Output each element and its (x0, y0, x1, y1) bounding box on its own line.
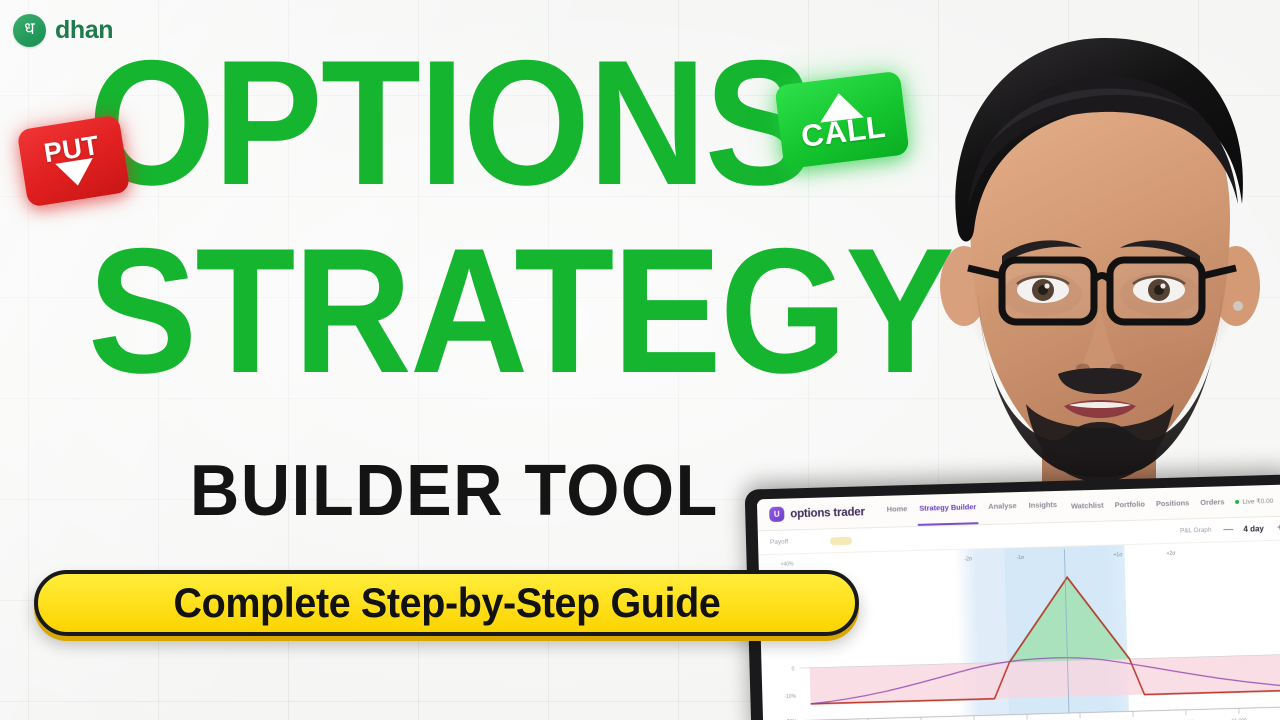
app-brand: U options trader (769, 504, 865, 522)
nav-item-analyse[interactable]: Analyse (988, 501, 1017, 516)
nav-item-portfolio[interactable]: Portfolio (1114, 500, 1145, 510)
headline-line-1: OPTIONS (88, 52, 812, 194)
ytick-40: +40% (781, 561, 794, 568)
nav-item-home[interactable]: Home (887, 504, 908, 519)
live-status-dot-icon (1235, 499, 1239, 503)
headline-line-3: BUILDER TOOL (190, 455, 719, 527)
nav-item-insights[interactable]: Insights (1029, 499, 1058, 514)
nav-item-strategy-builder[interactable]: Strategy Builder (919, 502, 976, 518)
app-primary-nav[interactable]: Home Strategy Builder Analyse Insights (887, 499, 1058, 518)
toolbar-right-label: P&L Graph (1180, 527, 1212, 535)
dhan-logo-wordmark: dhan (55, 16, 113, 45)
band-label-pos2: +2σ (1166, 550, 1176, 557)
stepper-increment-button[interactable]: + (1276, 523, 1280, 533)
toolbar-chip[interactable] (830, 536, 852, 545)
live-status-label: Live ₹0.00 (1242, 496, 1273, 505)
toolbar-right-group: P&L Graph — 4 day + (1180, 523, 1280, 536)
toolbar-left-label: Payoff (770, 539, 788, 547)
band-label-neg1: -1σ (1017, 555, 1025, 561)
stepper-value: 4 day (1243, 524, 1264, 534)
arrow-down-icon (55, 158, 96, 189)
put-badge: PUT (17, 114, 131, 207)
nav-item-positions[interactable]: Positions (1156, 498, 1190, 508)
days-stepper[interactable]: — 4 day + (1223, 523, 1280, 535)
options-trader-logo-icon: U (769, 507, 784, 522)
subtitle-banner: Complete Step-by-Step Guide (34, 570, 859, 636)
headline-line-2: STRATEGY (88, 240, 953, 382)
stepper-decrement-button[interactable]: — (1223, 525, 1231, 535)
dhan-logo: ध dhan (13, 14, 113, 47)
band-label-neg2: -2σ (965, 556, 973, 562)
ytick-0: 0 (792, 666, 795, 672)
nav-item-orders[interactable]: Orders (1200, 497, 1224, 507)
subtitle-banner-text: Complete Step-by-Step Guide (173, 582, 720, 624)
band-label-pos1: +1σ (1113, 552, 1123, 559)
ytick-neg10: -10% (784, 693, 796, 700)
call-badge-label: CALL (799, 111, 887, 152)
nav-item-watchlist[interactable]: Watchlist (1071, 501, 1104, 511)
thumbnail-canvas: ध dhan PUT CALL (0, 0, 1280, 720)
app-brand-name: options trader (790, 506, 865, 520)
live-status-badge: Live ₹0.00 (1235, 496, 1273, 505)
dhan-logo-icon: ध (13, 14, 46, 47)
call-badge: CALL (774, 71, 909, 170)
app-secondary-nav[interactable]: Watchlist Portfolio Positions Orders Liv… (1071, 493, 1280, 511)
